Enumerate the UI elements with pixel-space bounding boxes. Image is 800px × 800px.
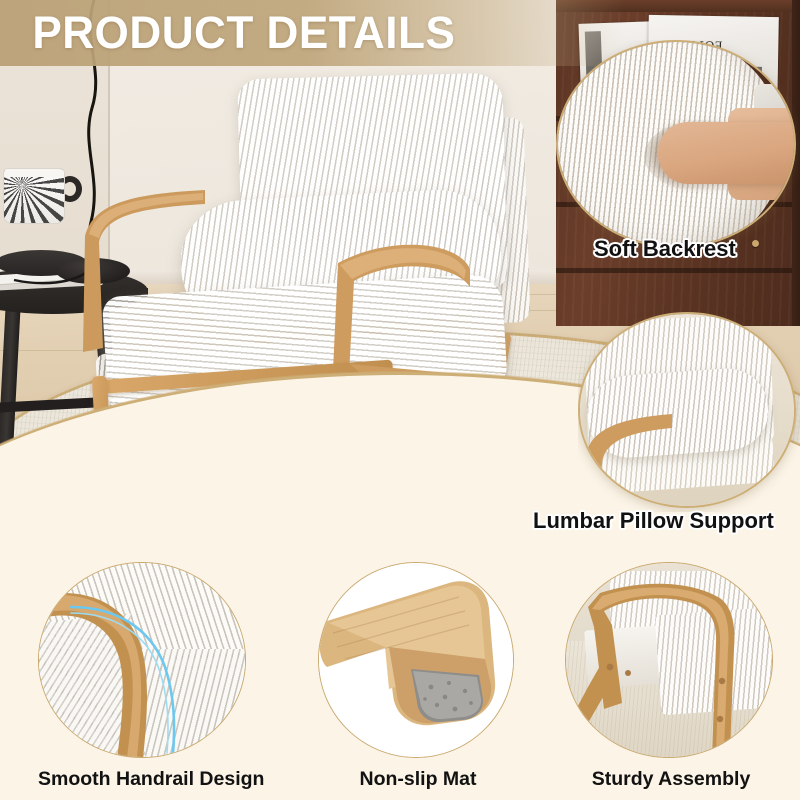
lumbar-pillow-circle-image [578, 312, 796, 508]
feature-caption-sturdy-assembly: Sturdy Assembly [565, 768, 777, 791]
callout-label-lumbar-pillow: Lumbar Pillow Support [533, 508, 774, 534]
assembly-frame-wood [566, 563, 773, 758]
feature-smooth-handrail: Smooth Handrail Design [38, 562, 250, 762]
feature-sturdy-assembly: Sturdy Assembly [565, 562, 777, 762]
patterned-mug [3, 168, 65, 224]
wooden-leg-end [319, 563, 514, 758]
product-details-page: FOLLOW [0, 0, 800, 800]
smooth-curve-highlight-icon [39, 563, 246, 758]
sturdy-assembly-image [565, 562, 773, 758]
callout-lumbar-pillow [578, 312, 800, 512]
hand-pressing [658, 122, 796, 184]
non-slip-mat-image [318, 562, 514, 758]
feature-caption-handrail: Smooth Handrail Design [38, 768, 250, 791]
feature-non-slip-mat: Non-slip Mat [318, 562, 518, 762]
soft-backrest-circle-image [556, 40, 796, 248]
feature-caption-non-slip-mat: Non-slip Mat [318, 768, 518, 791]
callout-soft-backrest [556, 40, 800, 250]
smooth-handrail-image [38, 562, 246, 758]
chair-armrest-left [77, 188, 207, 358]
callout-label-soft-backrest: Soft Backrest [594, 236, 736, 262]
page-title: PRODUCT DETAILS [32, 9, 455, 57]
lumbar-armrest [578, 410, 676, 508]
dresser-shelf [556, 268, 800, 273]
